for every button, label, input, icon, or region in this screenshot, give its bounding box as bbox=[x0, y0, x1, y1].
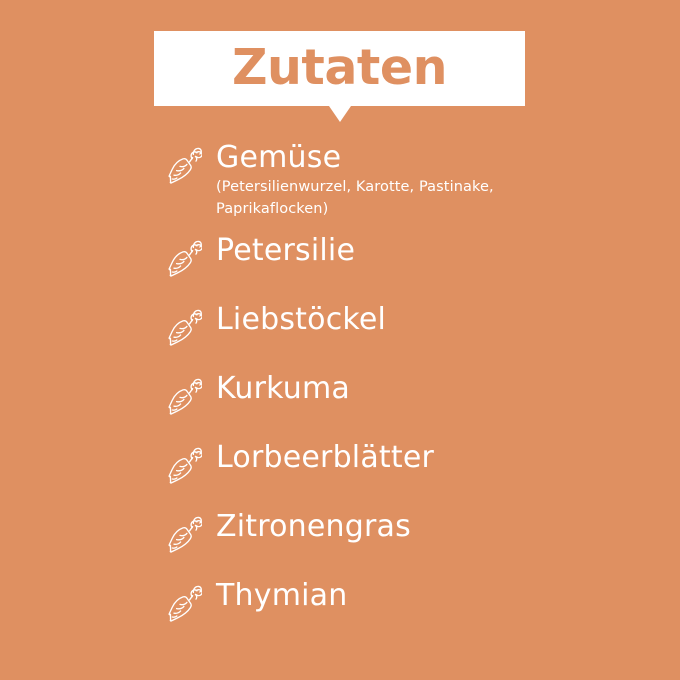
title-banner-box: Zutaten bbox=[154, 31, 525, 106]
ingredient-name: Petersilie bbox=[216, 233, 355, 268]
page-title: Zutaten bbox=[232, 43, 447, 92]
ingredient-name: Gemüse bbox=[216, 140, 341, 175]
ingredient-item: Gemüse (Petersilienwurzel, Karotte, Past… bbox=[0, 140, 680, 220]
ingredient-text: Gemüse (Petersilienwurzel, Karotte, Past… bbox=[216, 140, 680, 220]
ingredient-item: Kurkuma bbox=[0, 371, 680, 427]
ingredient-item: Thymian bbox=[0, 578, 680, 634]
ingredient-item: Zitronengras bbox=[0, 509, 680, 565]
ingredient-text: Zitronengras bbox=[216, 509, 680, 544]
carrot-icon bbox=[166, 304, 202, 348]
ingredient-name: Zitronengras bbox=[216, 509, 411, 544]
ingredient-item: Petersilie bbox=[0, 233, 680, 289]
carrot-icon bbox=[166, 235, 202, 279]
ingredient-name: Liebstöckel bbox=[216, 302, 386, 337]
carrot-icon bbox=[166, 142, 202, 186]
ingredient-item: Lorbeerblätter bbox=[0, 440, 680, 496]
carrot-icon bbox=[166, 442, 202, 486]
title-banner: Zutaten bbox=[154, 31, 525, 106]
ingredient-text: Liebstöckel bbox=[216, 302, 680, 337]
ingredient-name: Thymian bbox=[216, 578, 347, 613]
ingredient-detail: (Petersilienwurzel, Karotte, Pastinake, … bbox=[216, 176, 516, 220]
ingredient-item: Liebstöckel bbox=[0, 302, 680, 358]
carrot-icon bbox=[166, 511, 202, 555]
ingredient-text: Thymian bbox=[216, 578, 680, 613]
ingredient-text: Kurkuma bbox=[216, 371, 680, 406]
ingredient-list: Gemüse (Petersilienwurzel, Karotte, Past… bbox=[0, 140, 680, 647]
ingredient-name: Lorbeerblätter bbox=[216, 440, 434, 475]
ingredient-text: Petersilie bbox=[216, 233, 680, 268]
ingredient-text: Lorbeerblätter bbox=[216, 440, 680, 475]
banner-tail-triangle bbox=[329, 106, 351, 122]
ingredients-poster: Zutaten bbox=[0, 0, 680, 680]
ingredient-name: Kurkuma bbox=[216, 371, 350, 406]
carrot-icon bbox=[166, 373, 202, 417]
carrot-icon bbox=[166, 580, 202, 624]
